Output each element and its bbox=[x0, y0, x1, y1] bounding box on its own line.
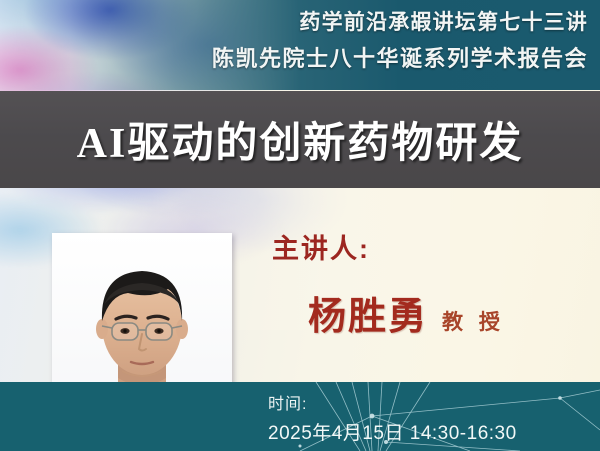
speaker-row: 杨胜勇 教 授 bbox=[308, 285, 505, 340]
time-value: 2025年4月15日 14:30-16:30 bbox=[268, 418, 517, 445]
speaker-label: 主讲人: bbox=[272, 227, 370, 266]
title-band: AI驱动的创新药物研发 bbox=[0, 91, 600, 188]
page-title: AI驱动的创新药物研发 bbox=[77, 109, 524, 170]
header-band: 药学前沿承嘏讲坛第七十三讲 陈凯先院士八十华诞系列学术报告会 bbox=[0, 0, 600, 90]
speaker-academic-title: 教 授 bbox=[442, 306, 505, 336]
header-line-1: 药学前沿承嘏讲坛第七十三讲 bbox=[299, 6, 588, 36]
speaker-name: 杨胜勇 bbox=[308, 285, 428, 340]
seminar-poster: 药学前沿承嘏讲坛第七十三讲 陈凯先院士八十华诞系列学术报告会 AI驱动的创新药物… bbox=[0, 0, 600, 451]
header-line-2: 陈凯先院士八十华诞系列学术报告会 bbox=[212, 41, 588, 73]
time-label: 时间: bbox=[268, 390, 307, 414]
